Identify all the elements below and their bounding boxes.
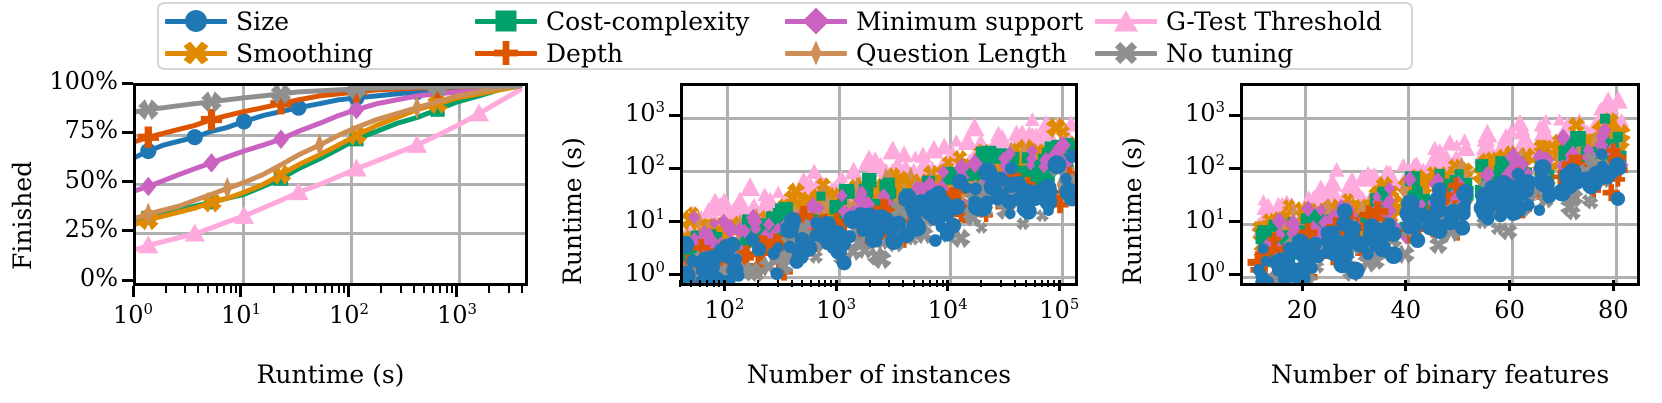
xtick-minor-600 (432, 286, 434, 293)
ytick-mark-100 (122, 82, 133, 85)
point-size (1048, 155, 1067, 174)
xtick-label-10: 101 (196, 303, 286, 327)
point-size (1038, 181, 1051, 194)
point-size (1348, 235, 1363, 250)
point-size (953, 200, 964, 211)
ytick-label-100: 102 (555, 154, 665, 178)
xtick-minor-800 (446, 286, 448, 293)
xtick-minor-80 (338, 286, 340, 293)
panel-finished-xlabel: Runtime (s) (133, 360, 528, 389)
point-size (907, 216, 925, 234)
xtick-minor-50 (690, 280, 692, 287)
panel-features: Runtime (s) Number of binary features 10… (1100, 0, 1662, 403)
ytick-mark-100 (1229, 167, 1240, 170)
marker-size (187, 129, 203, 145)
point-cost-complexity (862, 173, 876, 187)
xtick-minor-900 (451, 286, 453, 293)
point-g-test-threshold (950, 134, 963, 146)
point-size (1324, 225, 1340, 241)
xtick-mark-10 (239, 286, 242, 297)
point-g-test-threshold (1025, 112, 1040, 126)
point-size (1542, 189, 1556, 203)
ytick-label-0: 0% (0, 266, 118, 290)
xtick-minor-3000 (508, 286, 510, 293)
xtick-mark-40 (1404, 280, 1407, 291)
xtick-label-1: 100 (88, 303, 178, 327)
xtick-minor-80000 (1047, 280, 1049, 287)
panel-features-points (1243, 86, 1637, 283)
ytick-mark-0 (122, 279, 133, 282)
point-size (868, 223, 885, 240)
xtick-minor-20000 (980, 280, 982, 287)
point-g-test-threshold (883, 140, 903, 159)
panel-instances-axes (680, 83, 1078, 286)
xtick-minor-300 (400, 286, 402, 293)
point-size (1428, 221, 1444, 237)
xtick-minor-700 (818, 280, 820, 287)
ytick-mark-1000 (669, 114, 680, 117)
point-size (1584, 180, 1599, 195)
xtick-label-100000: 105 (1009, 298, 1109, 322)
xtick-label-1000: 103 (786, 298, 886, 322)
xtick-minor-40 (679, 280, 681, 287)
point-size (961, 182, 972, 193)
xtick-mark-100 (723, 280, 726, 291)
xtick-minor-60000 (1034, 280, 1036, 287)
point-size (929, 234, 942, 247)
xtick-label-1000: 103 (412, 303, 502, 327)
point-g-test-threshold (1554, 114, 1566, 125)
xtick-minor-3 (184, 286, 186, 293)
finished-curves (136, 86, 525, 283)
xtick-minor-4000 (521, 286, 523, 293)
ytick-mark-50 (122, 180, 133, 183)
ytick-mark-100 (669, 167, 680, 170)
xtick-minor-800 (824, 280, 826, 287)
ytick-label-75: 75% (0, 118, 118, 142)
ytick-label-25: 25% (0, 217, 118, 241)
xtick-minor-600 (810, 280, 812, 287)
ytick-label-10: 101 (1115, 208, 1225, 232)
xtick-label-20: 20 (1252, 298, 1352, 322)
point-size (1296, 250, 1309, 263)
ytick-mark-1 (1229, 273, 1240, 276)
figure-root: SizeCost-complexityMinimum supportG-Test… (0, 0, 1662, 403)
xtick-minor-8000 (936, 280, 938, 287)
marker-depth (138, 127, 159, 148)
xtick-mark-100000 (1058, 280, 1061, 291)
marker-minimum-support (140, 177, 156, 197)
point-size (1379, 226, 1391, 238)
marker-size (236, 113, 252, 129)
xtick-mark-1000 (835, 280, 838, 291)
xtick-mark-1 (132, 286, 135, 297)
xtick-minor-2000 (869, 280, 871, 287)
xtick-minor-900 (830, 280, 832, 287)
marker-minimum-support (273, 129, 289, 149)
marker-minimum-support (203, 153, 219, 173)
ytick-label-1000: 103 (555, 101, 665, 125)
xtick-mark-100 (347, 286, 350, 297)
xtick-minor-2 (165, 286, 167, 293)
point-size (1005, 162, 1018, 175)
point-size (1293, 262, 1308, 277)
ytick-mark-10 (1229, 220, 1240, 223)
panel-finished-axes (133, 83, 528, 286)
xtick-minor-7000 (929, 280, 931, 287)
xtick-minor-6 (216, 286, 218, 293)
point-size (800, 239, 818, 257)
xtick-label-60: 60 (1460, 298, 1560, 322)
xtick-minor-9000 (942, 280, 944, 287)
xtick-label-80: 80 (1563, 298, 1662, 322)
point-cost-complexity (1613, 132, 1623, 142)
xtick-mark-10000 (946, 280, 949, 291)
xtick-minor-5000 (913, 280, 915, 287)
ytick-mark-25 (122, 229, 133, 232)
xtick-minor-90 (343, 286, 345, 293)
xtick-minor-4000 (902, 280, 904, 287)
xtick-minor-400 (791, 280, 793, 287)
point-size (1456, 186, 1472, 202)
point-size (1512, 168, 1525, 181)
point-size (1611, 192, 1625, 206)
xtick-label-100: 102 (674, 298, 774, 322)
panel-features-xlabel: Number of binary features (1230, 360, 1650, 389)
xtick-minor-5 (207, 286, 209, 293)
point-size (1336, 238, 1347, 249)
xtick-label-10000: 104 (898, 298, 998, 322)
point-size (1005, 208, 1016, 219)
point-size (1522, 199, 1534, 211)
point-size (1596, 148, 1608, 160)
point-cost-complexity (883, 178, 895, 190)
point-size (1346, 262, 1364, 280)
xtick-minor-60 (699, 280, 701, 287)
point-size (936, 196, 954, 214)
point-size (1485, 180, 1499, 194)
point-size (784, 241, 796, 253)
xtick-minor-80 (713, 280, 715, 287)
point-g-test-threshold (740, 177, 760, 196)
point-size (984, 178, 1002, 196)
point-size (1416, 208, 1427, 219)
ytick-mark-1000 (1229, 114, 1240, 117)
point-size (968, 196, 981, 209)
point-size (1399, 205, 1416, 222)
point-size (1534, 205, 1545, 216)
ytick-mark-75 (122, 131, 133, 134)
point-size (898, 189, 917, 208)
xtick-minor-7 (223, 286, 225, 293)
xtick-minor-200 (380, 286, 382, 293)
point-size (924, 201, 935, 212)
xtick-minor-50 (315, 286, 317, 293)
point-size (771, 267, 784, 280)
panel-features-axes (1240, 83, 1640, 286)
point-cost-complexity (1600, 114, 1610, 124)
xtick-mark-80 (1612, 280, 1615, 291)
point-size (1367, 237, 1378, 248)
xtick-minor-40 (305, 286, 307, 293)
xtick-minor-50000 (1025, 280, 1027, 287)
point-g-test-threshold (772, 186, 785, 198)
ytick-label-1: 100 (555, 261, 665, 285)
point-size (1277, 252, 1295, 270)
xtick-mark-60 (1508, 280, 1511, 291)
point-size (746, 233, 760, 247)
xtick-label-40: 40 (1356, 298, 1456, 322)
point-size (698, 265, 714, 281)
ytick-label-50: 50% (0, 168, 118, 192)
xtick-label-100: 102 (304, 303, 394, 327)
point-cost-complexity (816, 192, 825, 201)
point-g-test-threshold (1329, 162, 1345, 177)
point-size (767, 247, 780, 260)
point-size (1253, 264, 1265, 276)
xtick-minor-200 (757, 280, 759, 287)
point-size (1261, 256, 1271, 266)
point-size (1362, 248, 1374, 260)
ytick-mark-1 (669, 273, 680, 276)
point-size (1454, 204, 1471, 221)
xtick-minor-70 (706, 280, 708, 287)
point-size (1518, 179, 1534, 195)
xtick-minor-9 (235, 286, 237, 293)
point-size (1040, 193, 1058, 211)
point-size (1604, 164, 1619, 179)
xtick-minor-400 (413, 286, 415, 293)
ytick-label-1000: 103 (1115, 101, 1225, 125)
xtick-minor-300 (777, 280, 779, 287)
point-size (1410, 233, 1425, 248)
point-size (1258, 243, 1269, 254)
ytick-label-10: 101 (555, 208, 665, 232)
xtick-minor-20 (273, 286, 275, 293)
point-size (980, 195, 993, 208)
ytick-label-100: 102 (1115, 154, 1225, 178)
point-g-test-threshold (806, 164, 823, 179)
xtick-minor-60 (324, 286, 326, 293)
point-size (816, 227, 834, 245)
point-size (936, 221, 947, 232)
ytick-label-100: 100% (0, 69, 118, 93)
point-size (1562, 178, 1578, 194)
xtick-minor-500 (423, 286, 425, 293)
point-g-test-threshold (1477, 124, 1497, 143)
point-size (1017, 201, 1033, 217)
xtick-minor-30 (292, 286, 294, 293)
panel-instances-xlabel: Number of instances (680, 360, 1078, 389)
xtick-minor-8 (230, 286, 232, 293)
xtick-mark-20 (1301, 280, 1304, 291)
marker-g-test-threshold (469, 103, 489, 121)
panel-finished: Finished Runtime (s) 0%25%50%75%100%1001… (0, 0, 540, 403)
point-size (1476, 204, 1494, 222)
xtick-minor-2000 (488, 286, 490, 293)
xtick-minor-6000 (922, 280, 924, 287)
point-size (1018, 189, 1032, 203)
xtick-minor-90000 (1053, 280, 1055, 287)
xtick-minor-3000 (888, 280, 890, 287)
xtick-minor-4 (197, 286, 199, 293)
point-g-test-threshold (965, 118, 985, 137)
point-size (885, 232, 903, 250)
point-size (1430, 191, 1447, 208)
xtick-minor-30000 (1000, 280, 1002, 287)
ytick-mark-10 (669, 220, 680, 223)
point-size (786, 219, 800, 233)
panel-instances-points (683, 86, 1075, 283)
point-size (1588, 166, 1603, 181)
point-g-test-threshold (1540, 114, 1552, 125)
xtick-minor-90 (718, 280, 720, 287)
point-g-test-threshold (1511, 114, 1530, 131)
xtick-minor-70000 (1041, 280, 1043, 287)
xtick-minor-40000 (1014, 280, 1016, 287)
xtick-mark-1000 (455, 286, 458, 297)
point-size (1501, 195, 1519, 213)
point-size (1535, 179, 1547, 191)
ytick-label-1: 100 (1115, 261, 1225, 285)
panel-instances: Runtime (s) Number of instances 10010110… (540, 0, 1100, 403)
point-size (728, 265, 740, 277)
xtick-minor-70 (331, 286, 333, 293)
point-size (1534, 159, 1551, 176)
point-size (686, 255, 699, 268)
xtick-minor-500 (801, 280, 803, 287)
xtick-minor-700 (439, 286, 441, 293)
point-size (725, 237, 741, 253)
